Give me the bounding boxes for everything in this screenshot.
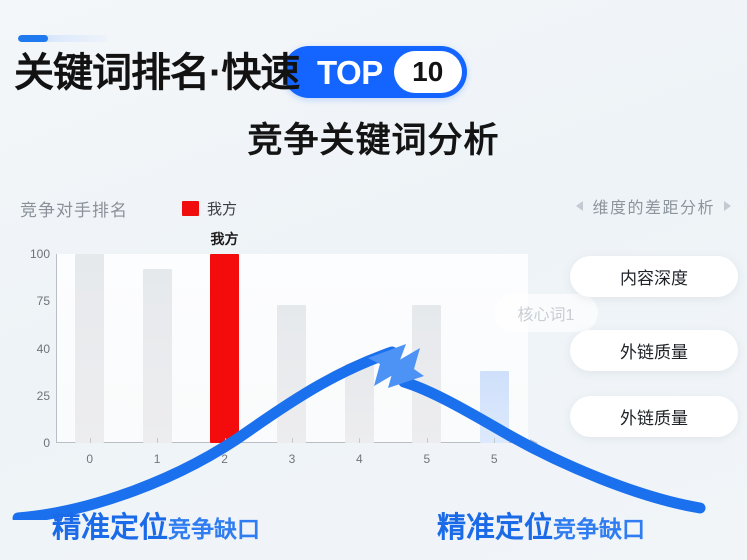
- y-axis-tick-label: 0: [10, 436, 50, 450]
- chart-bar-slot[interactable]: 我方: [191, 254, 258, 443]
- top-badge-circle: 10: [394, 51, 462, 93]
- x-axis-tickmark: [494, 438, 495, 443]
- x-axis-tick-label: 1: [123, 452, 190, 466]
- x-axis-tickmark: [359, 438, 360, 443]
- chart-bar-slot[interactable]: [258, 254, 325, 443]
- x-axis-tickmark: [292, 438, 293, 443]
- chart-bar[interactable]: [412, 305, 441, 443]
- dimension-section-title: 维度的差距分析: [576, 194, 731, 218]
- headline: 关键词排名·快速: [14, 45, 299, 101]
- x-axis-tick-label: 5: [393, 452, 460, 466]
- chart-bar[interactable]: [143, 269, 172, 443]
- y-axis-tick-label: 100: [10, 247, 50, 261]
- chart-bar-slot[interactable]: [326, 254, 393, 443]
- chart-bar-slot[interactable]: [461, 254, 528, 443]
- x-axis-tick-label: 0: [56, 452, 123, 466]
- chart-bar[interactable]: [75, 254, 104, 443]
- x-axis-tickmark: [90, 438, 91, 443]
- poster-root: 关键词排名·快速 TOP 10 竞争关键词分析 竞争对手排名 我方 维度的差距分…: [0, 0, 747, 560]
- x-axis-arrow-icon: [530, 439, 538, 447]
- callout-left-weak: 竞争缺口: [168, 510, 260, 544]
- core-keyword-chip[interactable]: 核心词1: [494, 294, 598, 332]
- chart-bar-slot[interactable]: [56, 254, 123, 443]
- chart-section-title: 竞争对手排名: [20, 196, 128, 221]
- x-axis-labels: 0123455: [56, 452, 528, 466]
- dimension-pill-content-depth[interactable]: 内容深度: [570, 256, 738, 297]
- x-axis-tick-label: 3: [258, 452, 325, 466]
- callout-left: 精准定位 竞争缺口: [52, 504, 260, 546]
- x-axis-tick-label: 2: [191, 452, 258, 466]
- x-axis-tickmark: [157, 438, 158, 443]
- chart-bar[interactable]: [480, 371, 509, 443]
- chevron-right-icon: [724, 201, 731, 211]
- callout-right: 精准定位 竞争缺口: [437, 504, 645, 546]
- dimension-section-label: 维度的差距分析: [592, 194, 715, 218]
- y-axis-tick-label: 75: [10, 294, 50, 308]
- chart-legend: 我方: [182, 198, 237, 219]
- callout-right-strong: 精准定位: [437, 504, 553, 546]
- headline-text: 关键词排名·快速: [14, 53, 299, 93]
- progress-bar: [18, 35, 108, 42]
- chart-bar[interactable]: 我方: [210, 254, 239, 443]
- callout-right-weak: 竞争缺口: [553, 510, 645, 544]
- bar-chart: 1007540250 我方 0123455: [10, 246, 540, 476]
- chart-bar[interactable]: [345, 364, 374, 443]
- dimension-pill-backlink-quality-2[interactable]: 外链质量: [570, 396, 738, 437]
- x-axis-tick-label: 5: [461, 452, 528, 466]
- y-axis-tick-label: 25: [10, 389, 50, 403]
- chart-bar-slot[interactable]: [123, 254, 190, 443]
- chevron-left-icon: [576, 201, 583, 211]
- callout-left-strong: 精准定位: [52, 504, 168, 546]
- page-title: 竞争关键词分析: [0, 112, 747, 163]
- progress-bar-fill: [18, 35, 48, 42]
- chart-bar[interactable]: [277, 305, 306, 443]
- legend-color-swatch: [182, 201, 199, 216]
- x-axis-tickmark: [225, 438, 226, 443]
- top-badge: TOP 10: [283, 46, 467, 98]
- top-badge-number: 10: [412, 58, 443, 86]
- x-axis-tickmark: [427, 438, 428, 443]
- dimension-pill-backlink-quality-1[interactable]: 外链质量: [570, 330, 738, 371]
- x-axis-tick-label: 4: [326, 452, 393, 466]
- legend-label: 我方: [207, 198, 237, 219]
- chart-bars: 我方: [56, 254, 528, 443]
- chart-bar-slot[interactable]: [393, 254, 460, 443]
- chart-bar-highlight-label: 我方: [211, 229, 239, 249]
- top-badge-label: TOP: [317, 56, 383, 89]
- y-axis-tick-label: 40: [10, 342, 50, 356]
